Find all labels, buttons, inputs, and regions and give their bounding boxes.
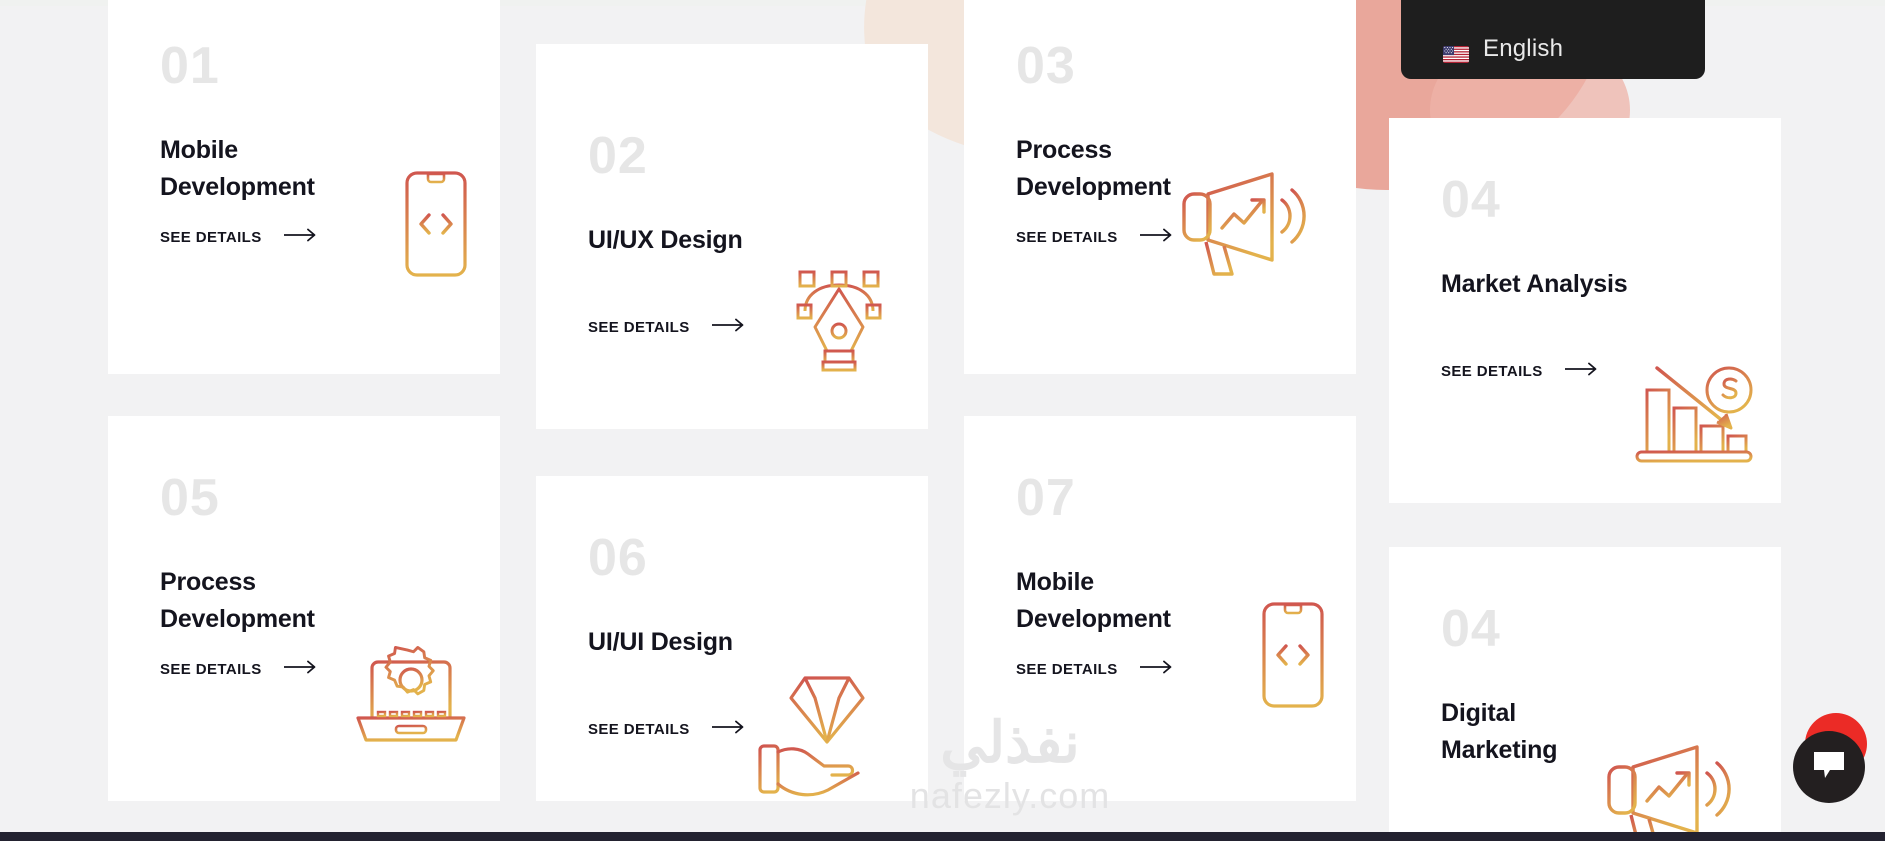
service-card-04[interactable]: 04 Market Analysis SEE DETAILS <box>1389 118 1781 503</box>
card-number: 04 <box>1441 174 1501 226</box>
arrow-right-icon <box>284 228 318 247</box>
arrow-right-icon <box>284 660 318 679</box>
see-details-label: SEE DETAILS <box>1441 363 1543 380</box>
service-card-01[interactable]: 01 Mobile Development SEE DETAILS <box>108 0 500 374</box>
card-title: Market Analysis <box>1441 266 1627 303</box>
card-title: Mobile Development <box>160 132 350 206</box>
bottom-bar <box>0 832 1885 841</box>
see-details-label: SEE DETAILS <box>588 721 690 738</box>
declining-bar-chart-dollar-icon <box>1629 358 1759 483</box>
see-details-label: SEE DETAILS <box>160 229 262 246</box>
card-number: 01 <box>160 40 220 92</box>
us-flag-icon <box>1443 46 1469 63</box>
mobile-code-icon <box>1260 600 1326 715</box>
see-details-link[interactable]: SEE DETAILS <box>588 318 746 337</box>
card-title: UI/UX Design <box>588 222 743 259</box>
see-details-link[interactable]: SEE DETAILS <box>588 720 746 739</box>
chat-widget[interactable] <box>1793 713 1885 805</box>
see-details-label: SEE DETAILS <box>160 661 262 678</box>
language-label: English <box>1483 35 1563 63</box>
see-details-link[interactable]: SEE DETAILS <box>160 660 318 679</box>
megaphone-growth-icon <box>1597 735 1733 832</box>
hand-diamond-icon <box>752 656 902 801</box>
service-card-05[interactable]: 05 Process Development SEE DETAILS <box>108 416 500 801</box>
card-title: UI/UI Design <box>588 624 733 661</box>
service-card-02[interactable]: 02 UI/UX Design SEE DETAILS <box>536 44 928 429</box>
see-details-label: SEE DETAILS <box>1016 661 1118 678</box>
service-card-08[interactable]: 04 Digital Marketing <box>1389 547 1781 832</box>
see-details-label: SEE DETAILS <box>1016 229 1118 246</box>
arrow-right-icon <box>712 720 746 739</box>
see-details-link[interactable]: SEE DETAILS <box>1016 660 1174 679</box>
arrow-right-icon <box>712 318 746 337</box>
see-details-link[interactable]: SEE DETAILS <box>160 228 318 247</box>
arrow-right-icon <box>1140 228 1174 247</box>
service-card-03[interactable]: 03 Process Development SEE DETAILS <box>964 0 1356 374</box>
service-card-07[interactable]: 07 Mobile Development SEE DETAILS <box>964 416 1356 801</box>
card-number: 03 <box>1016 40 1076 92</box>
service-card-06[interactable]: 06 UI/UI Design SEE DETAILS <box>536 476 928 801</box>
chat-bubble-icon <box>1812 750 1846 785</box>
mobile-code-icon <box>403 169 469 284</box>
see-details-label: SEE DETAILS <box>588 319 690 336</box>
card-number: 02 <box>588 130 648 182</box>
card-number: 05 <box>160 472 220 524</box>
see-details-link[interactable]: SEE DETAILS <box>1016 228 1174 247</box>
card-title: Mobile Development <box>1016 564 1206 638</box>
megaphone-growth-icon <box>1172 162 1308 287</box>
arrow-right-icon <box>1565 362 1599 381</box>
page-root: 01 Mobile Development SEE DETAILS 02 UI/… <box>0 0 1885 841</box>
card-number: 07 <box>1016 472 1076 524</box>
pen-tool-icon <box>781 263 897 384</box>
see-details-link[interactable]: SEE DETAILS <box>1441 362 1599 381</box>
card-number: 04 <box>1441 603 1501 655</box>
laptop-gear-icon <box>352 640 470 755</box>
language-selector[interactable]: English <box>1401 0 1705 79</box>
chat-button[interactable] <box>1793 731 1865 803</box>
arrow-right-icon <box>1140 660 1174 679</box>
card-number: 06 <box>588 532 648 584</box>
card-title: Process Development <box>160 564 350 638</box>
